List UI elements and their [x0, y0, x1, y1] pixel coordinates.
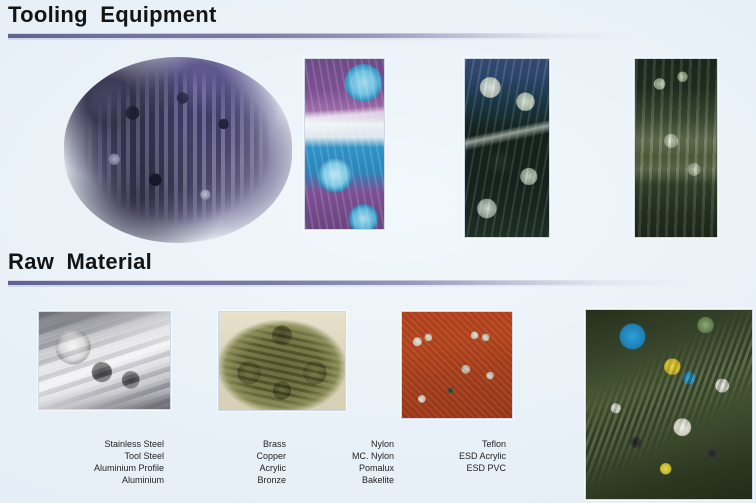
material-item: Bakelite	[290, 474, 394, 486]
material-list-metals-copper-alloys: Brass Copper Acrylic Bronze	[180, 438, 286, 486]
section-title-raw-material: Raw Material	[8, 249, 152, 275]
material-item: Brass	[180, 438, 286, 450]
material-item: MC. Nylon	[290, 450, 394, 462]
stainless-steel-texture	[39, 312, 170, 409]
brass-parts-texture	[219, 312, 345, 410]
material-item: Tool Steel	[34, 450, 164, 462]
material-item: Nylon	[290, 438, 394, 450]
material-list-plastics-nylon: Nylon MC. Nylon Pomalux Bakelite	[290, 438, 394, 486]
machine-vises-texture	[465, 59, 549, 237]
material-item: Stainless Steel	[34, 438, 164, 450]
brass-parts-photo	[218, 311, 346, 411]
rotary-chucks-photo	[304, 58, 385, 230]
section-divider-raw-material	[8, 280, 698, 286]
machine-tooling-texture	[635, 59, 717, 237]
engineering-plastics-photo	[585, 309, 753, 500]
material-item: Copper	[180, 450, 286, 462]
machine-tooling-photo	[634, 58, 718, 238]
section-divider-tooling	[8, 33, 633, 39]
tool-holders-highlights	[64, 57, 292, 243]
material-list-plastics-esd: Teflon ESD Acrylic ESD PVC	[398, 438, 506, 474]
engineering-plastics-texture	[586, 310, 752, 499]
material-item: Pomalux	[290, 462, 394, 474]
nylon-parts-photo	[401, 311, 513, 419]
material-item: Aluminium	[34, 474, 164, 486]
stainless-steel-photo	[38, 311, 171, 410]
section-title-tooling: Tooling Equipment	[8, 2, 217, 28]
nylon-parts-texture	[402, 312, 512, 418]
divider-underline	[8, 285, 698, 287]
material-item: ESD Acrylic	[398, 450, 506, 462]
material-item: Teflon	[398, 438, 506, 450]
tool-holders-photo	[64, 57, 292, 243]
material-item: Acrylic	[180, 462, 286, 474]
material-item: ESD PVC	[398, 462, 506, 474]
divider-underline	[8, 38, 633, 40]
material-list-metals-steel: Stainless Steel Tool Steel Aluminium Pro…	[34, 438, 164, 486]
rotary-chucks-texture	[305, 59, 384, 229]
material-item: Aluminium Profile	[34, 462, 164, 474]
page-root: Tooling Equipment Raw Material Stainless…	[0, 0, 756, 503]
machine-vises-photo	[464, 58, 550, 238]
material-item: Bronze	[180, 474, 286, 486]
